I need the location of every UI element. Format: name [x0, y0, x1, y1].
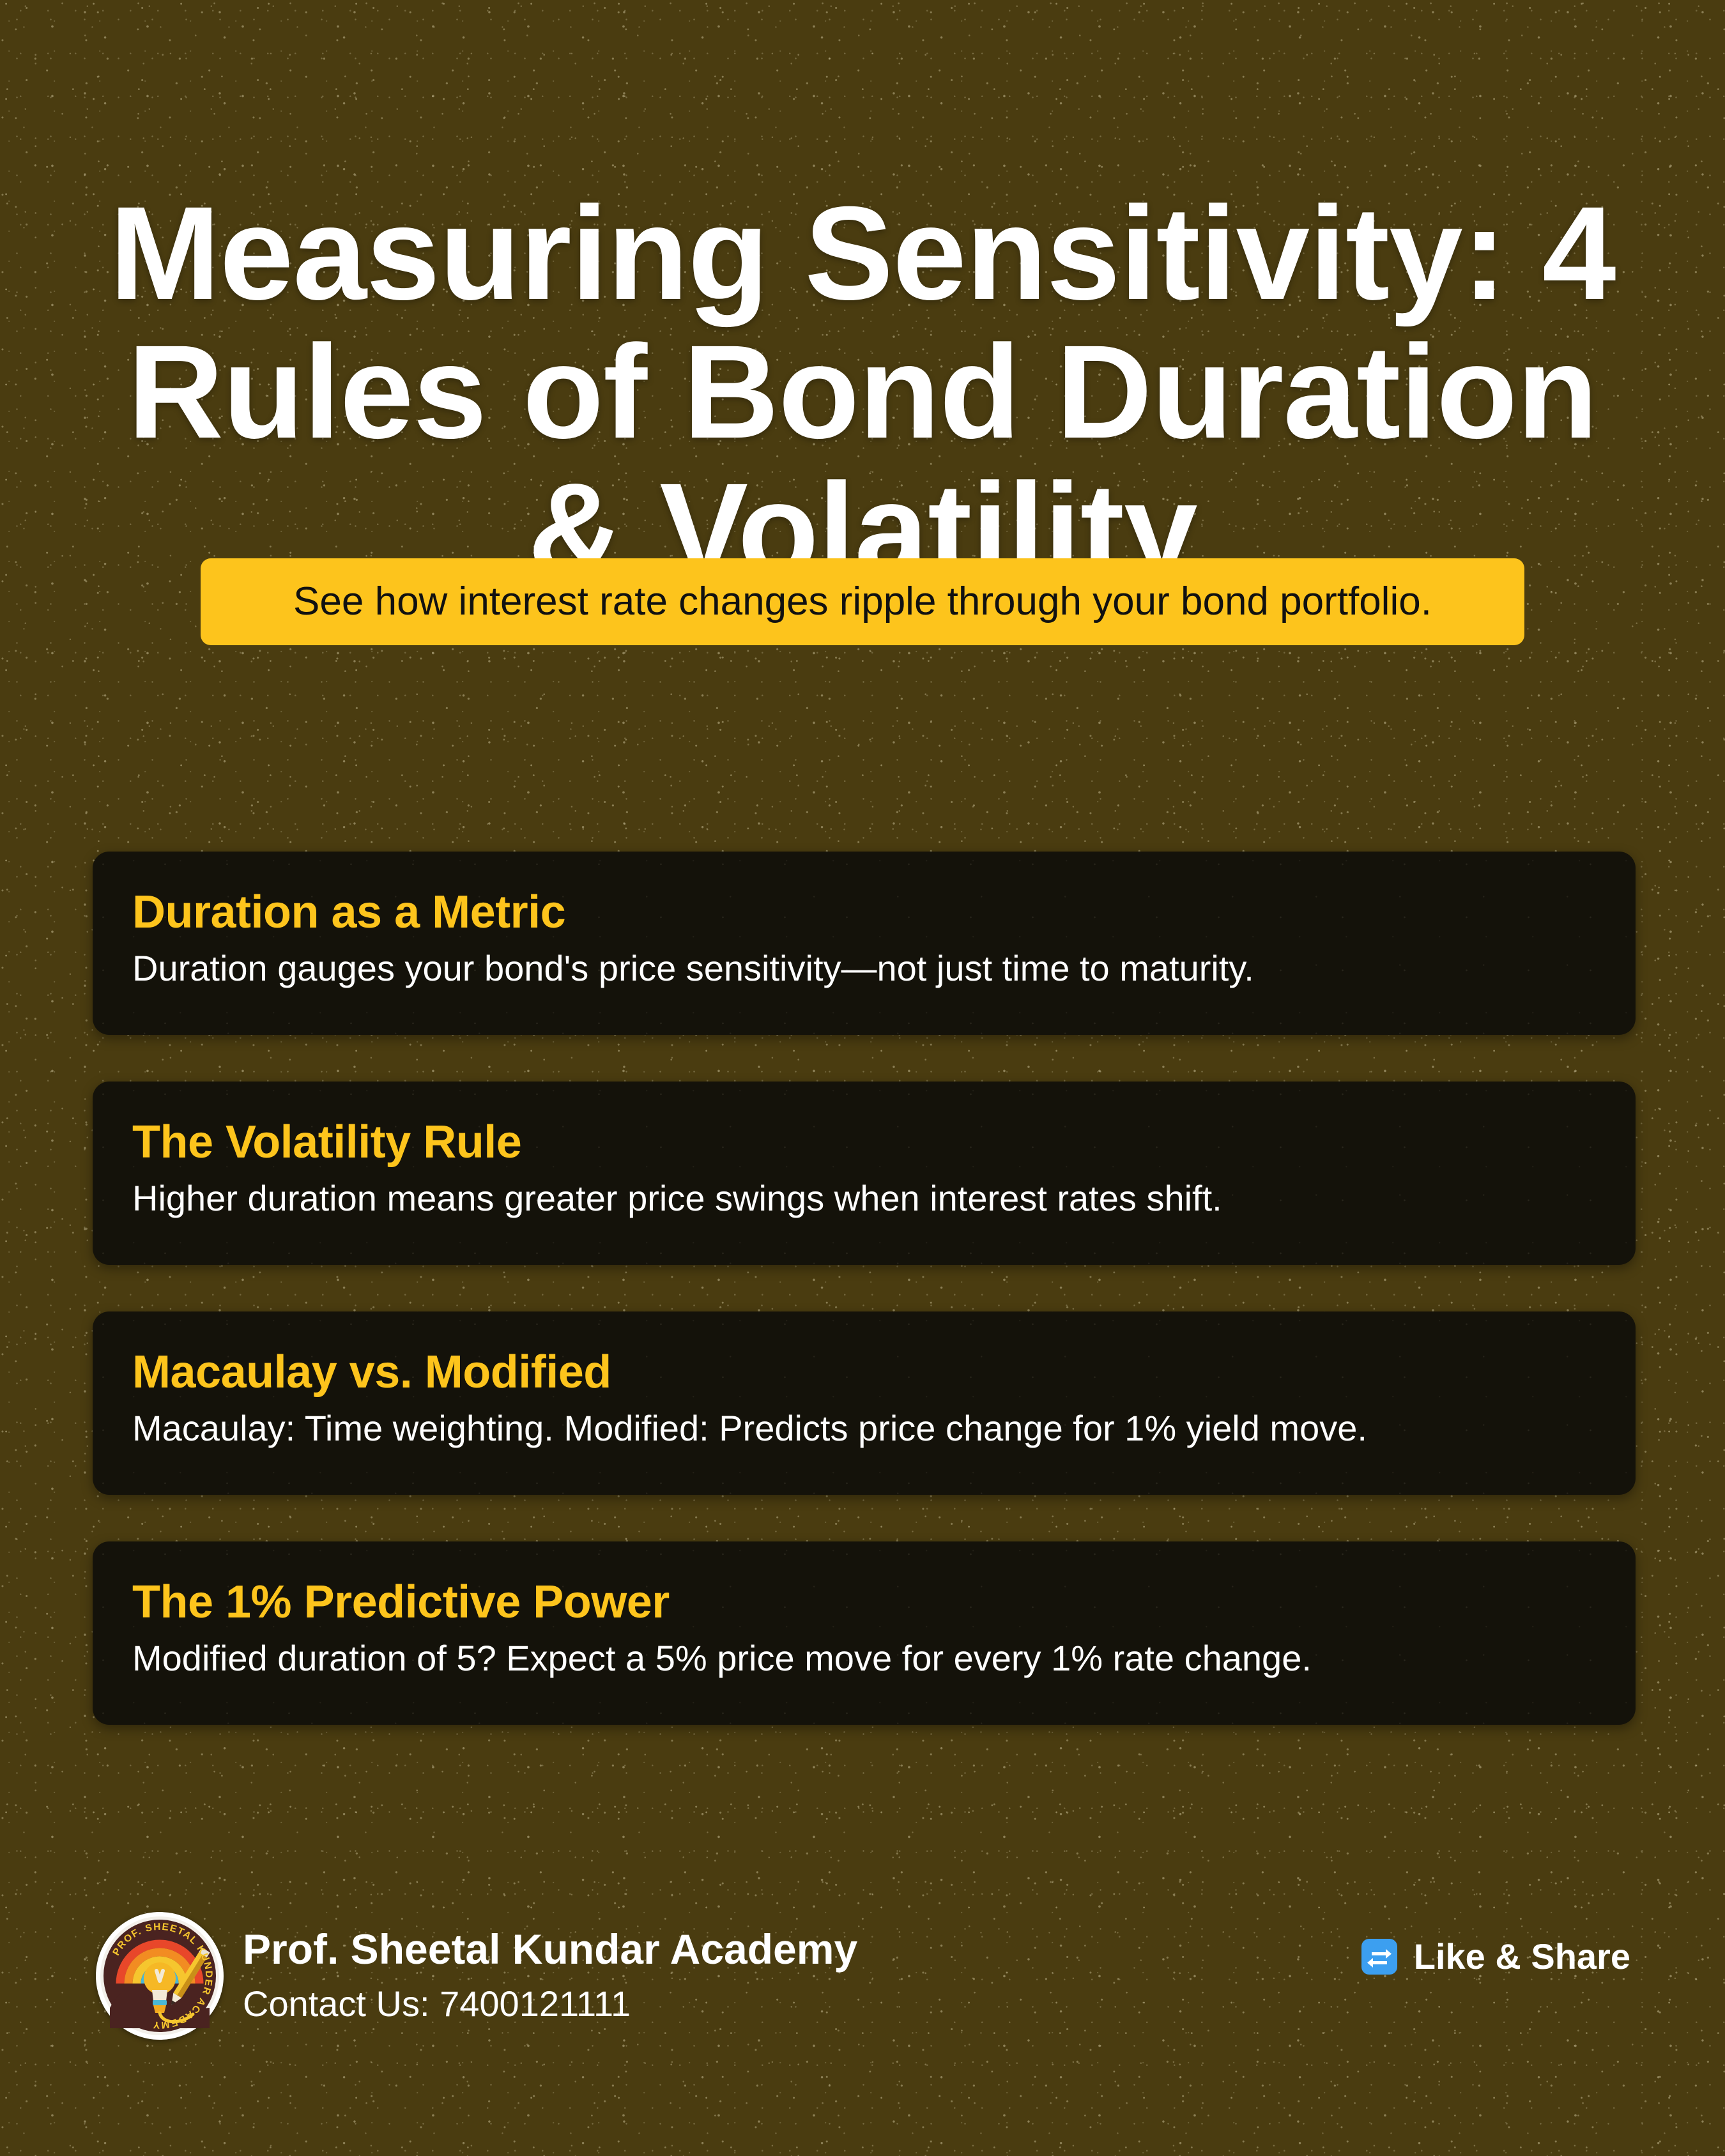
rule-card: Duration as a Metric Duration gauges you… — [93, 852, 1636, 1035]
rule-card-title: The Volatility Rule — [132, 1117, 1596, 1168]
rule-card-body: Higher duration means greater price swin… — [132, 1177, 1596, 1219]
subtitle-banner: See how interest rate changes ripple thr… — [201, 558, 1524, 645]
academy-logo: PROF. SHEETAL KUNDER ACADEMY — [96, 1912, 224, 2040]
rule-card-title: The 1% Predictive Power — [132, 1577, 1596, 1628]
academy-badge-icon: PROF. SHEETAL KUNDER ACADEMY — [96, 1912, 224, 2040]
rule-card-content: The 1% Predictive Power Modified duratio… — [132, 1577, 1596, 1679]
page-title: Measuring Sensitivity: 4 Rules of Bond D… — [96, 185, 1629, 599]
poster-content: Measuring Sensitivity: 4 Rules of Bond D… — [0, 0, 1725, 2156]
subtitle-text: See how interest rate changes ripple thr… — [293, 579, 1432, 624]
infographic-poster: Measuring Sensitivity: 4 Rules of Bond D… — [0, 0, 1725, 2156]
brand-block: PROF. SHEETAL KUNDER ACADEMY Prof. Sheet… — [96, 1912, 857, 2040]
rule-card-content: The Volatility Rule Higher duration mean… — [132, 1117, 1596, 1219]
rule-card: Macaulay vs. Modified Macaulay: Time wei… — [93, 1311, 1636, 1495]
rule-card-body: Modified duration of 5? Expect a 5% pric… — [132, 1637, 1596, 1679]
rule-card-title: Macaulay vs. Modified — [132, 1347, 1596, 1398]
repeat-icon[interactable] — [1361, 1939, 1397, 1975]
rule-card-body: Macaulay: Time weighting. Modified: Pred… — [132, 1407, 1596, 1449]
like-and-share-label[interactable]: Like & Share — [1414, 1939, 1630, 1975]
rule-card: The 1% Predictive Power Modified duratio… — [93, 1541, 1636, 1725]
rule-card-content: Macaulay vs. Modified Macaulay: Time wei… — [132, 1347, 1596, 1449]
footer: PROF. SHEETAL KUNDER ACADEMY Prof. Sheet… — [0, 1888, 1725, 2156]
brand-text-block: Prof. Sheetal Kundar Academy Contact Us:… — [243, 1912, 857, 2023]
like-and-share[interactable]: Like & Share — [1361, 1939, 1630, 1975]
brand-contact: Contact Us: 7400121111 — [243, 1985, 857, 2023]
rule-card-body: Duration gauges your bond's price sensit… — [132, 947, 1596, 990]
rule-card-content: Duration as a Metric Duration gauges you… — [132, 887, 1596, 990]
rule-card: The Volatility Rule Higher duration mean… — [93, 1082, 1636, 1265]
brand-name: Prof. Sheetal Kundar Academy — [243, 1927, 857, 1971]
rules-card-list: Duration as a Metric Duration gauges you… — [93, 852, 1636, 1725]
rule-card-title: Duration as a Metric — [132, 887, 1596, 938]
